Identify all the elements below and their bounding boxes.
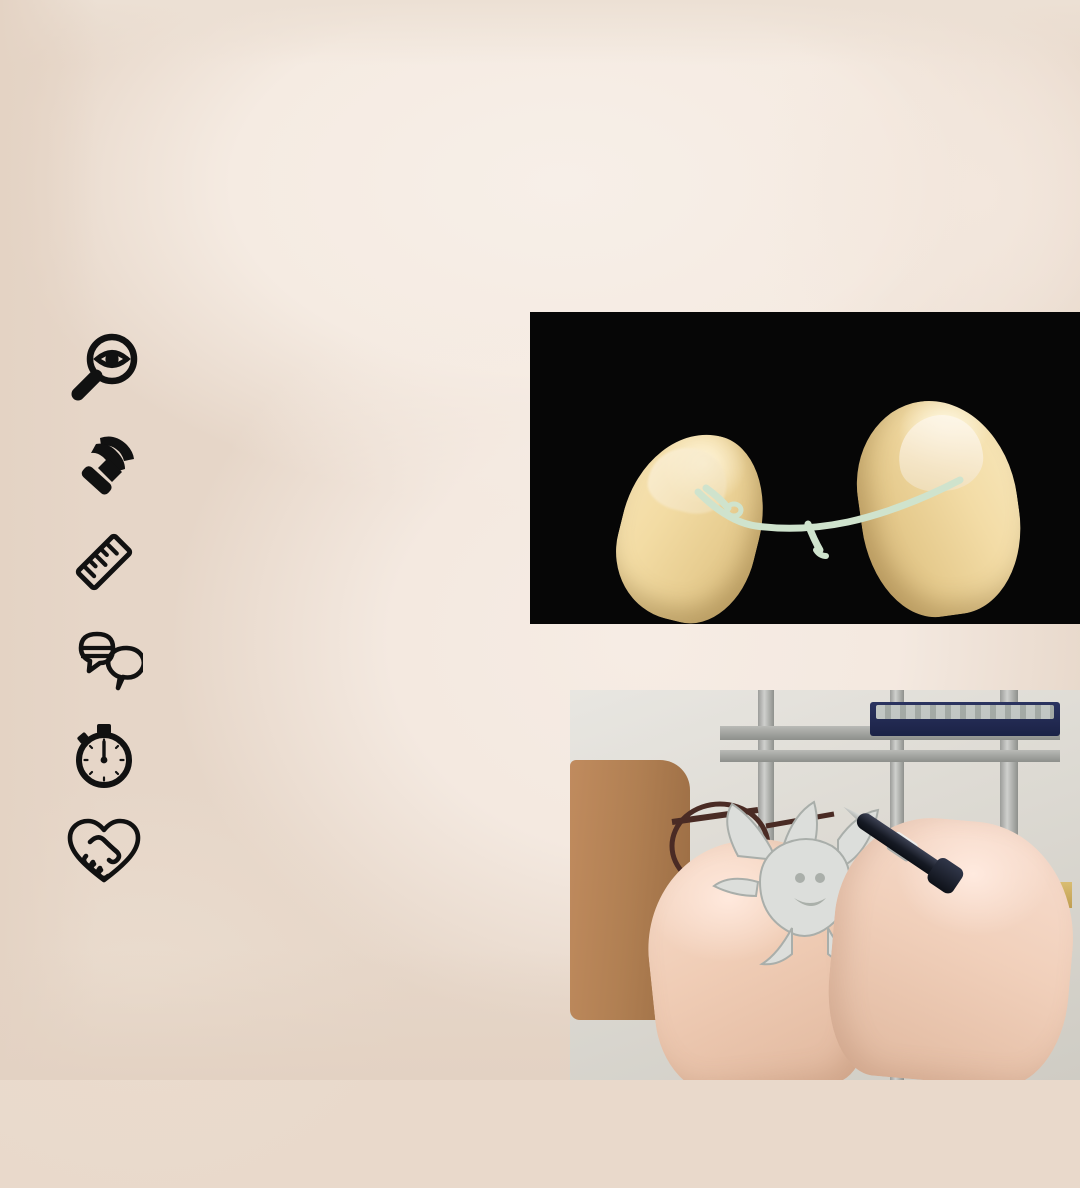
- magnifier-eye-icon: [62, 328, 146, 412]
- workshop-painting-photo-content: [570, 690, 1080, 1080]
- workshop-painting-photo: [570, 690, 1080, 1080]
- speech-bubbles-icon: [62, 616, 146, 700]
- miniature-flexibility-photo-content: [530, 312, 1080, 624]
- shelf-beam-top-2: [720, 750, 1060, 762]
- ruler-icon: [62, 520, 146, 604]
- hammer-icon: [62, 424, 146, 508]
- handshake-heart-icon: [62, 808, 146, 892]
- parts-tray-top: [870, 702, 1060, 736]
- miniature-flexibility-photo: [530, 312, 1080, 624]
- parts-tray-top-contents: [876, 705, 1054, 719]
- stopwatch-icon: [62, 712, 146, 796]
- background-edge-top: [0, 0, 1080, 65]
- flexible-miniature-part: [690, 470, 970, 562]
